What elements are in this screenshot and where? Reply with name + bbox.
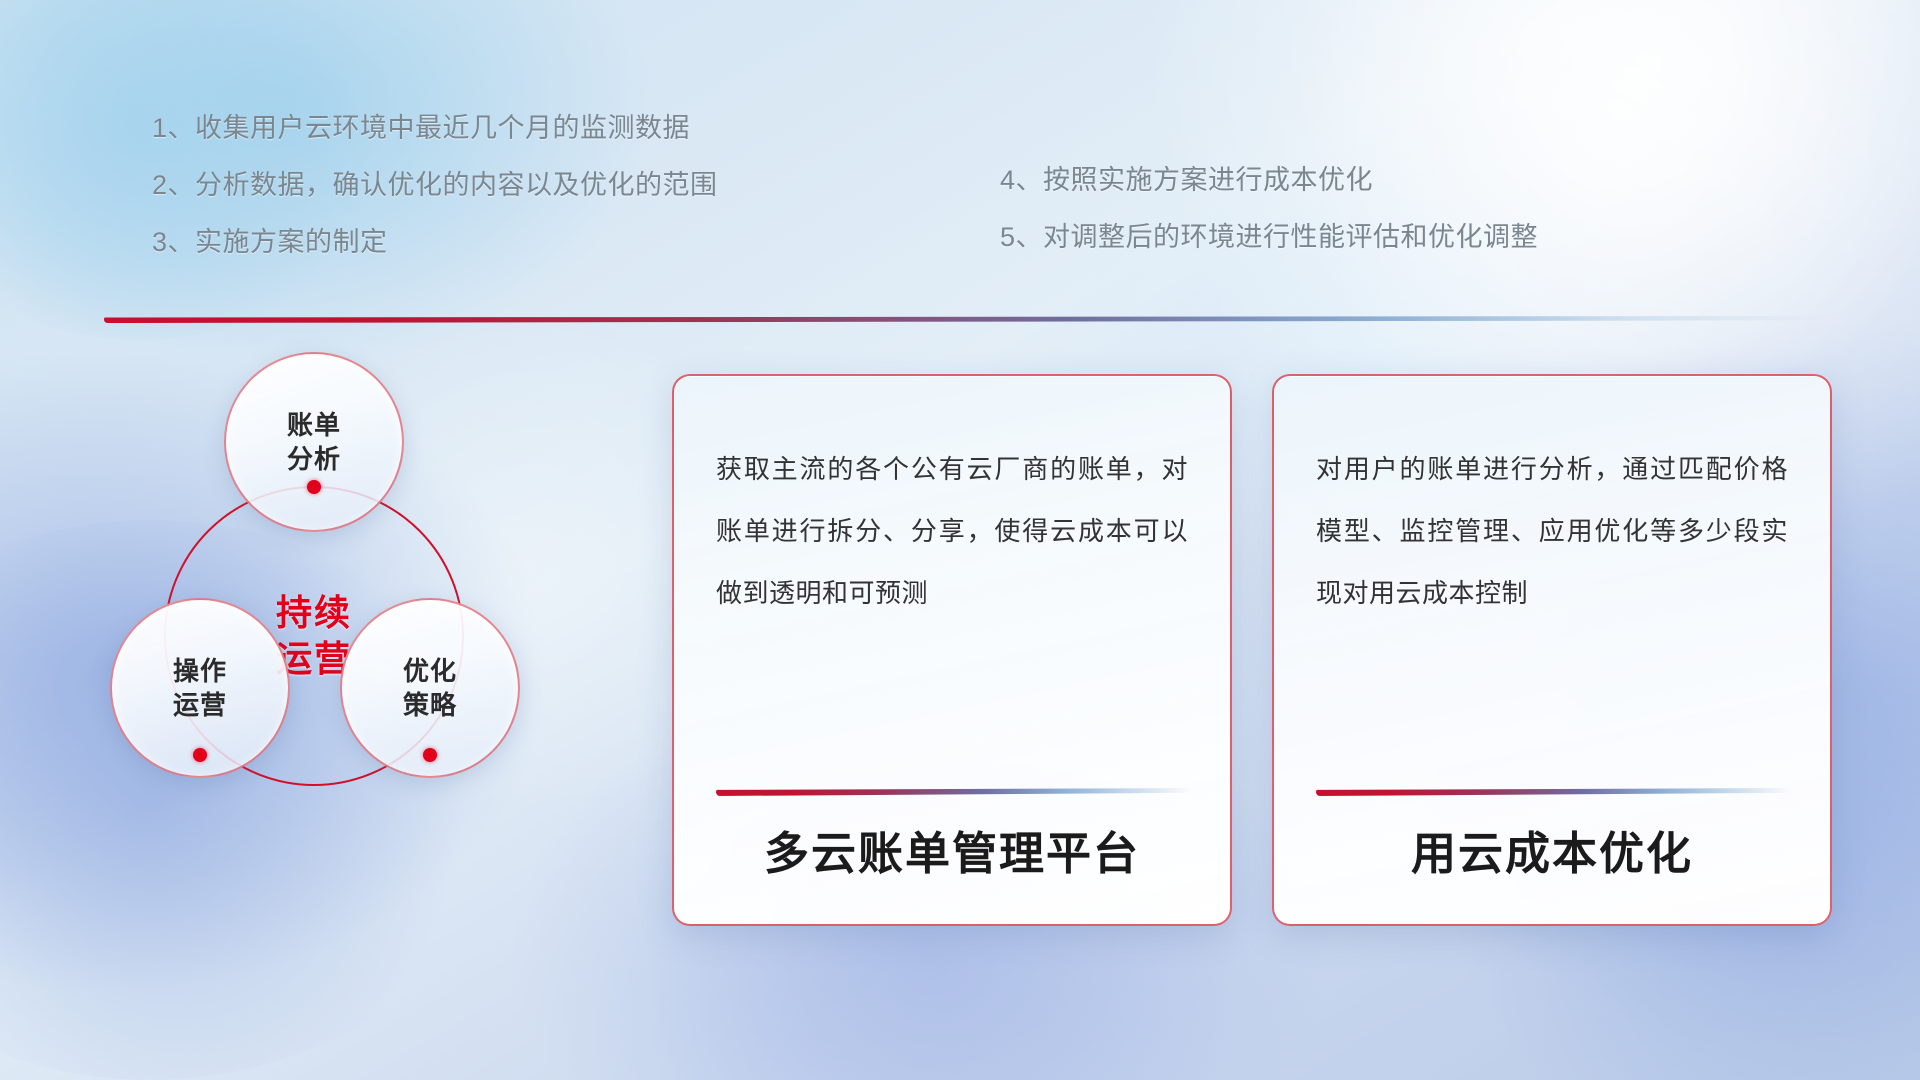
step-item-2: 2、分析数据，确认优化的内容以及优化的范围 <box>152 157 718 214</box>
card-body-text: 获取主流的各个公有云厂商的账单，对账单进行拆分、分享，使得云成本可以做到透明和可… <box>716 438 1188 624</box>
info-card-cloud-cost-optimization[interactable]: 对用户的账单进行分析，通过匹配价格模型、监控管理、应用优化等多少段实现对用云成本… <box>1272 374 1832 926</box>
step-item-1: 1、收集用户云环境中最近几个月的监测数据 <box>152 100 718 157</box>
slide-root: 1、收集用户云环境中最近几个月的监测数据 2、分析数据，确认优化的内容以及优化的… <box>0 0 1920 1080</box>
card-divider-rule <box>1316 788 1792 796</box>
step-item-5: 5、对调整后的环境进行性能评估和优化调整 <box>1000 209 1538 266</box>
diagram-connector-dot-right <box>423 748 437 762</box>
card-body-text: 对用户的账单进行分析，通过匹配价格模型、监控管理、应用优化等多少段实现对用云成本… <box>1316 438 1788 624</box>
diagram-node-label: 操作 运营 <box>173 654 227 722</box>
diagram-center-label-line1: 持续 <box>276 590 352 636</box>
diagram-node-label: 优化 策略 <box>403 654 457 722</box>
diagram-connector-dot-left <box>193 748 207 762</box>
diagram-node-left-line2: 运营 <box>173 688 227 722</box>
diagram-node-right-line2: 策略 <box>403 688 457 722</box>
steps-list: 1、收集用户云环境中最近几个月的监测数据 2、分析数据，确认优化的内容以及优化的… <box>0 0 1920 300</box>
step-item-4: 4、按照实施方案进行成本优化 <box>1000 152 1538 209</box>
diagram-node-right-line1: 优化 <box>403 654 457 688</box>
info-card-multicloud-billing[interactable]: 获取主流的各个公有云厂商的账单，对账单进行拆分、分享，使得云成本可以做到透明和可… <box>672 374 1232 926</box>
diagram-node-bill-analysis[interactable]: 账单 分析 <box>224 352 404 532</box>
continuous-operation-diagram: 持续 运营 账单 分析 操作 运营 优化 策略 <box>96 352 566 962</box>
diagram-node-top-line1: 账单 <box>287 408 341 442</box>
step-item-3: 3、实施方案的制定 <box>152 214 718 271</box>
card-title: 用云成本优化 <box>1274 817 1830 882</box>
diagram-node-label: 账单 分析 <box>287 408 341 476</box>
card-divider-rule <box>716 788 1192 796</box>
steps-column-left: 1、收集用户云环境中最近几个月的监测数据 2、分析数据，确认优化的内容以及优化的… <box>152 100 718 271</box>
steps-column-right: 4、按照实施方案进行成本优化 5、对调整后的环境进行性能评估和优化调整 <box>1000 152 1538 266</box>
diagram-node-top-line2: 分析 <box>287 442 341 476</box>
card-title: 多云账单管理平台 <box>674 817 1230 882</box>
diagram-node-left-line1: 操作 <box>173 654 227 688</box>
diagram-connector-dot-top <box>307 480 321 494</box>
header-divider-rule <box>104 316 1836 323</box>
